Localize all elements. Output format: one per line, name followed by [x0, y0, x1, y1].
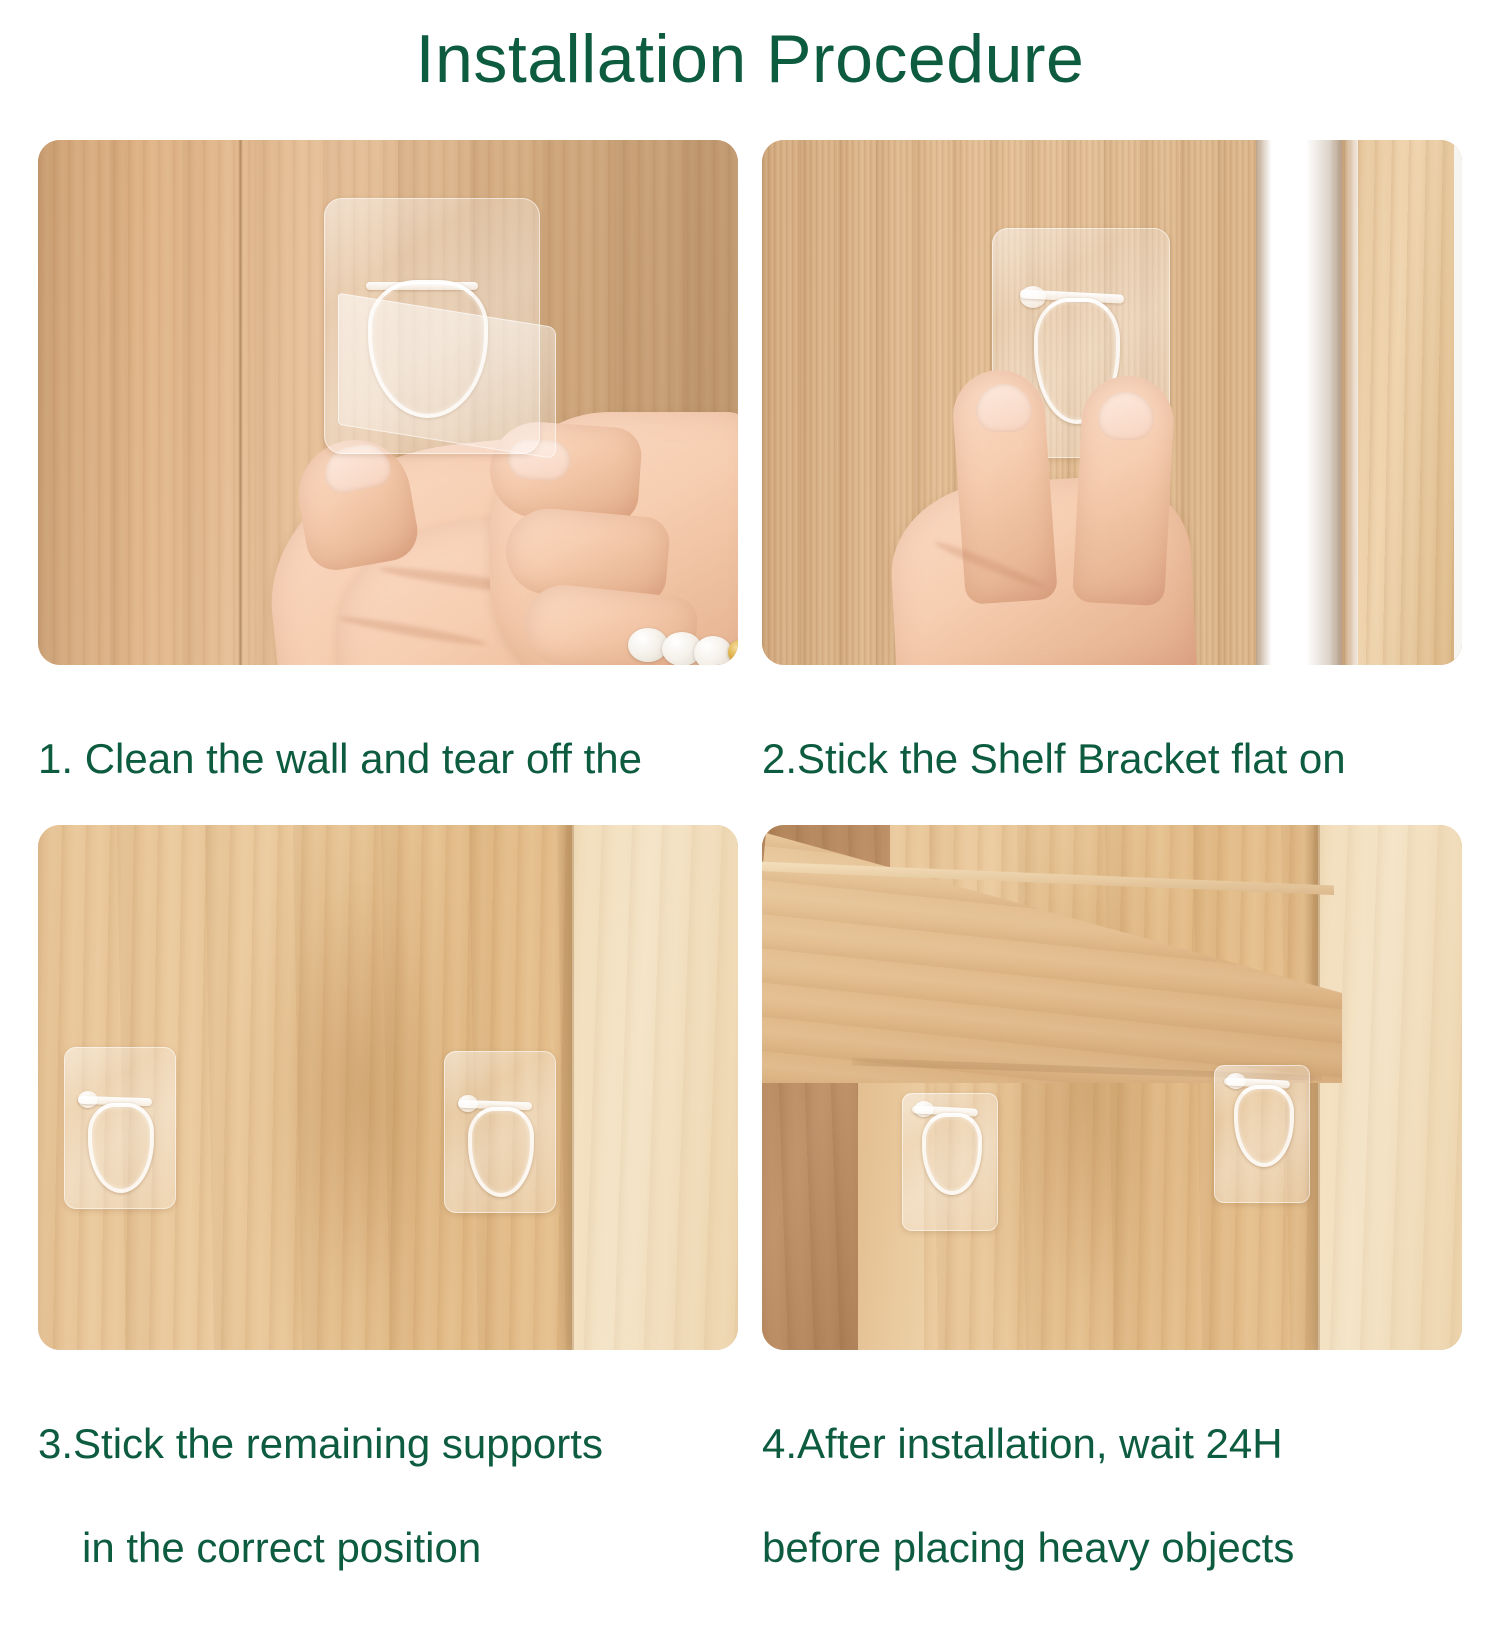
fingernail-index [976, 384, 1032, 432]
step-caption-2-line1: 2.Stick the Shelf Bracket flat on [762, 733, 1462, 785]
photo-shelf-resting-on-brackets [762, 825, 1462, 1350]
step-caption-3-line1: 3.Stick the remaining supports [38, 1418, 738, 1470]
step-caption-1-line1: 1. Clean the wall and tear off the [38, 733, 738, 785]
bracket-clear-left [64, 1047, 176, 1209]
bracket-clear-left [902, 1093, 998, 1231]
fingernail-middle [1098, 392, 1154, 440]
bracket-ring [1234, 1085, 1294, 1167]
door-jamb-wood [1358, 140, 1454, 665]
step-card-4: 4.After installation, wait 24H before pl… [762, 825, 1462, 1626]
step-card-1: 1. Clean the wall and tear off the prote… [38, 140, 738, 941]
bracelet-pearl [694, 636, 732, 665]
wall-right-white-edge [1454, 140, 1462, 665]
step-card-2: 2.Stick the Shelf Bracket flat on the wa… [762, 140, 1462, 941]
step-caption-3: 3.Stick the remaining supports in the co… [38, 1366, 738, 1626]
step-caption-3-line2: in the correct position [38, 1522, 738, 1574]
white-trim-strip [1256, 140, 1342, 665]
side-board-pale [1318, 825, 1462, 1350]
wall-seam-line [238, 140, 243, 665]
step-caption-4: 4.After installation, wait 24H before pl… [762, 1366, 1462, 1626]
step-card-3: 3.Stick the remaining supports in the co… [38, 825, 738, 1626]
photo-peel-protective-film [38, 140, 738, 665]
bracket-ring [922, 1113, 982, 1195]
side-board-pale [572, 825, 738, 1350]
bracket-clear-right [1214, 1065, 1310, 1203]
photo-press-bracket-on-wall [762, 140, 1462, 665]
bracket-ring [88, 1103, 154, 1193]
bracket-ring [468, 1107, 534, 1197]
jamb-shadow-gap [1342, 140, 1358, 665]
page-title: Installation Procedure [0, 14, 1500, 104]
panel-edge-shadow [558, 825, 574, 1350]
photo-two-brackets-aligned [38, 825, 738, 1350]
step-caption-4-line1: 4.After installation, wait 24H [762, 1418, 1462, 1470]
installation-steps-grid: 1. Clean the wall and tear off the prote… [0, 140, 1500, 1500]
step-caption-4-line2: before placing heavy objects [762, 1522, 1462, 1574]
bracket-clear-right [444, 1051, 556, 1213]
